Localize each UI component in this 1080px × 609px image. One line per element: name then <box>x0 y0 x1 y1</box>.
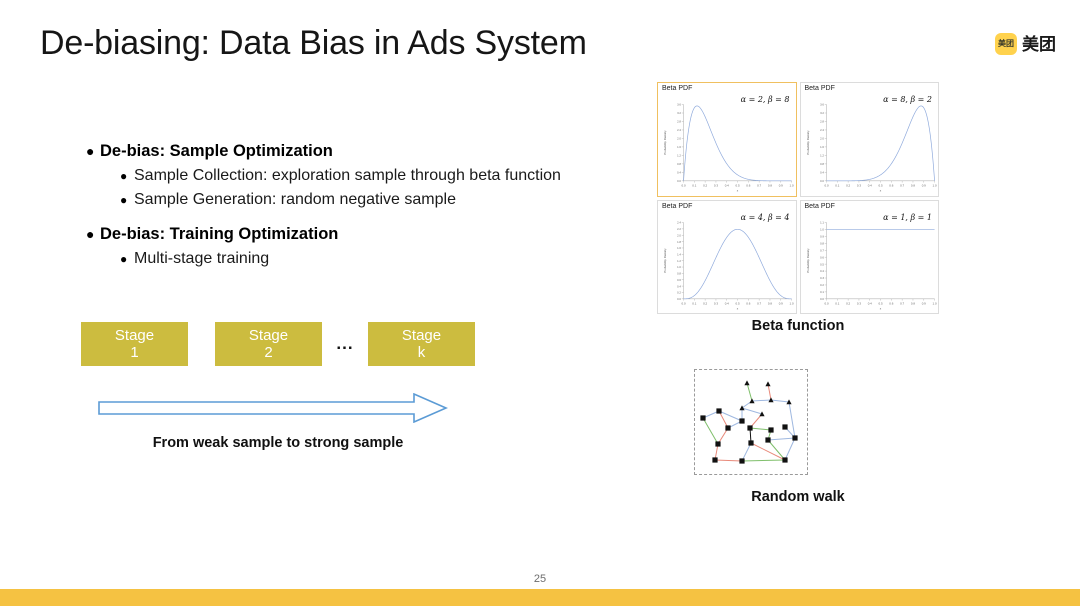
svg-text:0.6: 0.6 <box>746 301 750 305</box>
svg-text:0.9: 0.9 <box>820 234 824 238</box>
random-walk-caption: Random walk <box>657 489 939 505</box>
svg-text:0.4: 0.4 <box>677 171 681 175</box>
svg-text:0.6: 0.6 <box>889 184 893 188</box>
beta-chart-1: Beta PDF α = 2, β = 8 0.00.10.20.30.40.5… <box>657 82 797 197</box>
svg-text:1.6: 1.6 <box>820 145 824 149</box>
svg-text:0.6: 0.6 <box>677 277 681 281</box>
svg-text:0.5: 0.5 <box>736 184 740 188</box>
bullet-level2-label: Multi-stage training <box>134 247 269 271</box>
svg-text:1.1: 1.1 <box>820 220 824 224</box>
svg-text:1.0: 1.0 <box>932 184 936 188</box>
svg-text:0.0: 0.0 <box>824 184 828 188</box>
svg-text:0.1: 0.1 <box>835 301 839 305</box>
svg-text:0.8: 0.8 <box>768 301 772 305</box>
svg-text:0.3: 0.3 <box>714 184 718 188</box>
stage-box-1: Stage 1 <box>81 322 188 366</box>
svg-text:0.2: 0.2 <box>846 301 850 305</box>
svg-text:0.5: 0.5 <box>736 301 740 305</box>
chart-plot: 0.00.10.20.30.40.50.60.70.80.91.00.00.10… <box>801 201 939 314</box>
svg-text:0.1: 0.1 <box>820 290 824 294</box>
svg-text:0.0: 0.0 <box>681 184 685 188</box>
page-number: 25 <box>0 573 1080 585</box>
bullet-dot-icon: ● <box>120 164 134 188</box>
svg-text:0.8: 0.8 <box>677 162 681 166</box>
svg-text:3.2: 3.2 <box>820 111 824 115</box>
svg-text:0.8: 0.8 <box>820 162 824 166</box>
stage-box-label: Stage <box>249 327 288 344</box>
svg-text:2.8: 2.8 <box>820 120 824 124</box>
meituan-logo: 美团 美团 <box>995 33 1056 55</box>
svg-text:0.8: 0.8 <box>910 301 914 305</box>
svg-text:1.2: 1.2 <box>677 154 681 158</box>
svg-text:0.9: 0.9 <box>921 184 925 188</box>
stage-box-label: Stage <box>115 327 154 344</box>
svg-text:1.0: 1.0 <box>932 301 936 305</box>
svg-text:0.3: 0.3 <box>856 301 860 305</box>
beta-chart-3: Beta PDF α = 4, β = 4 0.00.10.20.30.40.5… <box>657 200 797 315</box>
svg-text:0.4: 0.4 <box>820 269 824 273</box>
svg-text:2.4: 2.4 <box>677 220 681 224</box>
svg-text:1.8: 1.8 <box>677 239 681 243</box>
svg-text:0.5: 0.5 <box>820 262 824 266</box>
bullet-level1-label: De-bias: Training Optimization <box>100 223 338 245</box>
svg-text:3.2: 3.2 <box>677 111 681 115</box>
svg-text:2.0: 2.0 <box>677 137 681 141</box>
svg-text:0.3: 0.3 <box>820 276 824 280</box>
stage-diagram: Stage 1 Stage 2 ... Stage k <box>81 322 475 366</box>
svg-text:Probability Density: Probability Density <box>805 248 809 273</box>
svg-text:2.0: 2.0 <box>677 233 681 237</box>
svg-text:0.7: 0.7 <box>900 184 904 188</box>
bullet-level2-label: Sample Collection: exploration sample th… <box>134 164 561 188</box>
svg-text:0.0: 0.0 <box>820 179 824 183</box>
svg-text:0.1: 0.1 <box>692 301 696 305</box>
svg-text:0.6: 0.6 <box>889 301 893 305</box>
bullet-dot-icon: ● <box>86 223 100 245</box>
svg-text:x: x <box>737 306 739 310</box>
svg-text:0.6: 0.6 <box>746 184 750 188</box>
svg-text:0.4: 0.4 <box>725 184 729 188</box>
svg-text:Probability Density: Probability Density <box>805 130 809 155</box>
svg-text:0.7: 0.7 <box>900 301 904 305</box>
svg-text:1.0: 1.0 <box>790 301 794 305</box>
svg-text:0.5: 0.5 <box>878 301 882 305</box>
svg-text:2.4: 2.4 <box>677 128 681 132</box>
svg-text:0.4: 0.4 <box>725 301 729 305</box>
svg-text:1.6: 1.6 <box>677 145 681 149</box>
arrow-caption: From weak sample to strong sample <box>98 435 458 451</box>
stage-box-label: Stage <box>402 327 441 344</box>
spacer <box>86 212 656 223</box>
stage-box-k: Stage k <box>368 322 475 366</box>
svg-text:x: x <box>879 306 881 310</box>
bullet-dot-icon: ● <box>86 140 100 162</box>
svg-text:0.8: 0.8 <box>820 241 824 245</box>
bullet-dot-icon: ● <box>120 188 134 212</box>
svg-text:2.8: 2.8 <box>677 120 681 124</box>
svg-text:2.4: 2.4 <box>820 128 824 132</box>
svg-text:1.2: 1.2 <box>677 258 681 262</box>
svg-text:1.0: 1.0 <box>677 265 681 269</box>
svg-text:0.7: 0.7 <box>757 301 761 305</box>
svg-text:0.1: 0.1 <box>692 184 696 188</box>
svg-text:0.4: 0.4 <box>820 171 824 175</box>
svg-text:0.7: 0.7 <box>757 184 761 188</box>
bullet-level1-label: De-bias: Sample Optimization <box>100 140 333 162</box>
bullet-level2: ● Multi-stage training <box>120 247 656 271</box>
svg-text:Probability Density: Probability Density <box>663 130 667 155</box>
svg-text:0.8: 0.8 <box>677 271 681 275</box>
svg-text:0.1: 0.1 <box>835 184 839 188</box>
svg-text:0.4: 0.4 <box>677 284 681 288</box>
bullet-dot-icon: ● <box>120 247 134 271</box>
svg-text:0.8: 0.8 <box>768 184 772 188</box>
svg-text:0.2: 0.2 <box>820 283 824 287</box>
svg-text:3.6: 3.6 <box>677 103 681 107</box>
svg-text:3.6: 3.6 <box>820 103 824 107</box>
bullet-list: ● De-bias: Sample Optimization ● Sample … <box>86 140 656 271</box>
progression-arrow <box>98 393 448 428</box>
svg-text:1.6: 1.6 <box>677 246 681 250</box>
beta-function-caption: Beta function <box>657 318 939 334</box>
svg-text:1.2: 1.2 <box>820 154 824 158</box>
beta-chart-2: Beta PDF α = 8, β = 2 0.00.10.20.30.40.5… <box>800 82 940 197</box>
svg-text:1.0: 1.0 <box>820 227 824 231</box>
svg-text:0.9: 0.9 <box>779 184 783 188</box>
svg-text:2.0: 2.0 <box>820 137 824 141</box>
svg-text:0.6: 0.6 <box>820 255 824 259</box>
bullet-level1: ● De-bias: Sample Optimization <box>86 140 656 162</box>
slide: De-biasing: Data Bias in Ads System 美团 美… <box>0 0 1080 609</box>
svg-text:0.4: 0.4 <box>867 301 871 305</box>
svg-text:0.0: 0.0 <box>824 301 828 305</box>
page-title: De-biasing: Data Bias in Ads System <box>40 24 587 63</box>
svg-text:0.4: 0.4 <box>867 184 871 188</box>
svg-text:0.0: 0.0 <box>677 179 681 183</box>
svg-text:0.7: 0.7 <box>820 248 824 252</box>
svg-text:0.8: 0.8 <box>910 184 914 188</box>
svg-text:1.4: 1.4 <box>677 252 681 256</box>
stage-box-index: 2 <box>264 344 272 361</box>
random-walk-figure <box>694 369 808 475</box>
svg-text:0.0: 0.0 <box>677 297 681 301</box>
bullet-level1: ● De-bias: Training Optimization <box>86 223 656 245</box>
logo-text: 美团 <box>1022 36 1056 53</box>
svg-text:x: x <box>879 189 881 193</box>
svg-text:0.3: 0.3 <box>714 301 718 305</box>
beta-chart-4: Beta PDF α = 1, β = 1 0.00.10.20.30.40.5… <box>800 200 940 315</box>
svg-text:1.0: 1.0 <box>790 184 794 188</box>
svg-text:0.9: 0.9 <box>921 301 925 305</box>
chart-plot: 0.00.10.20.30.40.50.60.70.80.91.00.00.40… <box>801 83 939 196</box>
stage-box-index: 1 <box>130 344 138 361</box>
stage-box-2: Stage 2 <box>215 322 322 366</box>
svg-text:2.2: 2.2 <box>677 227 681 231</box>
svg-text:0.5: 0.5 <box>878 184 882 188</box>
svg-text:0.2: 0.2 <box>677 290 681 294</box>
bullet-level2-label: Sample Generation: random negative sampl… <box>134 188 456 212</box>
chart-plot: 0.00.10.20.30.40.50.60.70.80.91.00.00.20… <box>658 201 796 314</box>
svg-text:0.2: 0.2 <box>703 184 707 188</box>
arrow-right-icon <box>98 393 448 423</box>
svg-text:0.0: 0.0 <box>681 301 685 305</box>
beta-pdf-chart-grid: Beta PDF α = 2, β = 8 0.00.10.20.30.40.5… <box>657 82 939 314</box>
svg-text:0.2: 0.2 <box>703 301 707 305</box>
random-walk-graph <box>695 370 806 473</box>
svg-text:0.0: 0.0 <box>820 297 824 301</box>
chart-plot: 0.00.10.20.30.40.50.60.70.80.91.00.00.40… <box>658 83 796 196</box>
svg-text:0.9: 0.9 <box>779 301 783 305</box>
logo-mark-icon: 美团 <box>995 33 1017 55</box>
svg-text:0.3: 0.3 <box>856 184 860 188</box>
bullet-level2: ● Sample Generation: random negative sam… <box>120 188 656 212</box>
svg-text:0.2: 0.2 <box>846 184 850 188</box>
stage-box-index: k <box>418 344 426 361</box>
svg-text:Probability Density: Probability Density <box>663 248 667 273</box>
svg-text:x: x <box>737 189 739 193</box>
stage-ellipsis: ... <box>322 334 368 354</box>
bullet-level2: ● Sample Collection: exploration sample … <box>120 164 656 188</box>
footer-bar <box>0 589 1080 606</box>
